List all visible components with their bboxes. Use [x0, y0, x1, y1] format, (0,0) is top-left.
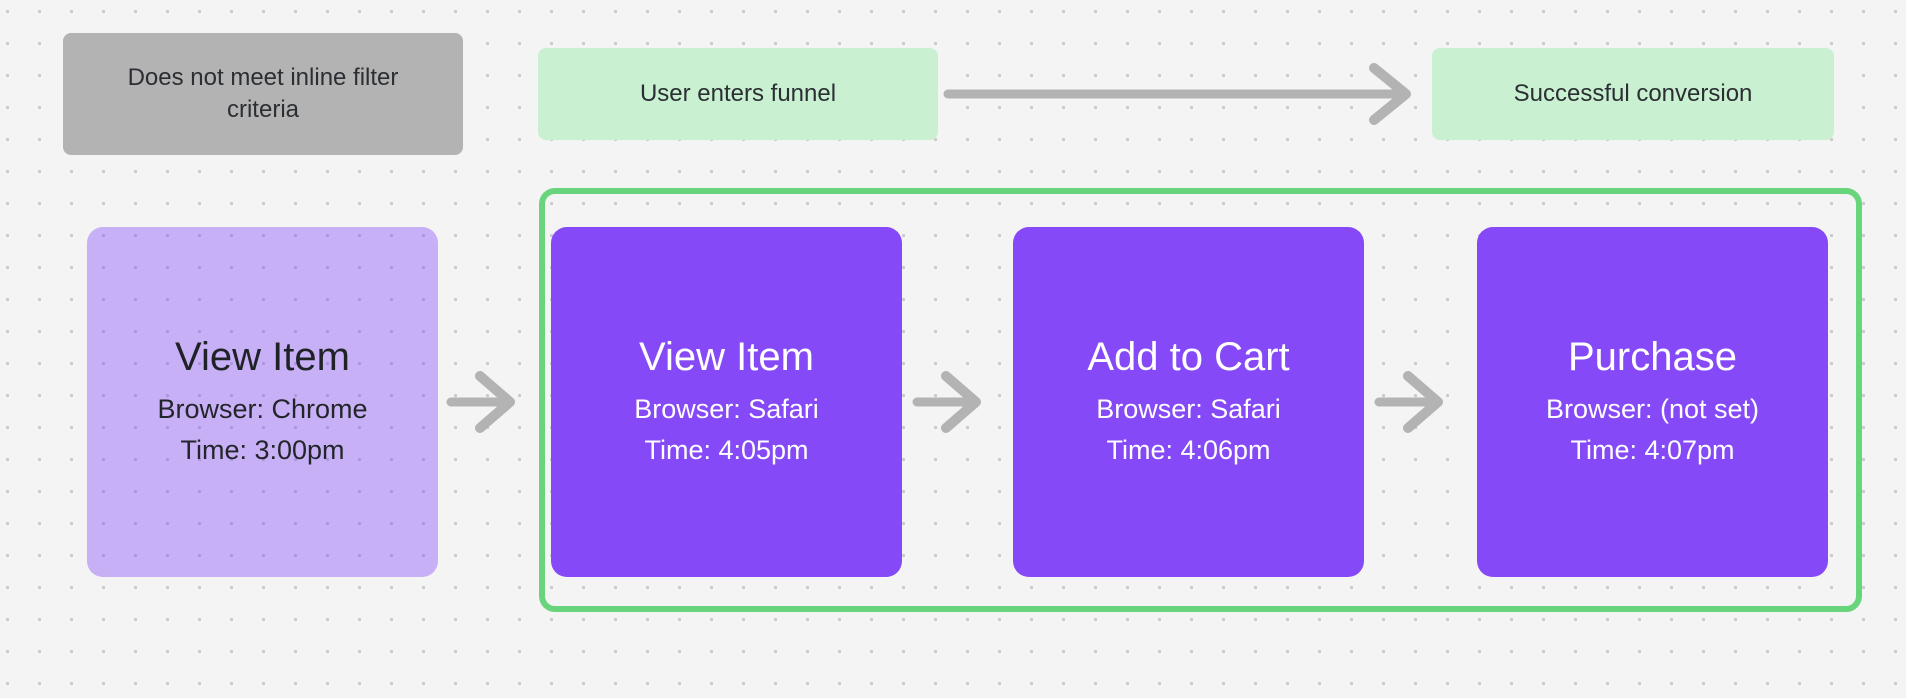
step-arrow-icon-3 [1374, 368, 1460, 436]
legend-flow-arrow-icon [942, 60, 1428, 128]
event-card-time: Time: 4:07pm [1570, 430, 1734, 470]
legend-user-enters-funnel: User enters funnel [538, 48, 938, 140]
event-card-time: Time: 3:00pm [180, 430, 344, 470]
event-card-title: Purchase [1568, 334, 1737, 381]
event-card-browser: Browser: Safari [1096, 389, 1281, 429]
event-card-browser: Browser: Chrome [157, 389, 367, 429]
event-card-funnel-step-2[interactable]: Add to Cart Browser: Safari Time: 4:06pm [1013, 227, 1364, 577]
event-card-funnel-step-1[interactable]: View Item Browser: Safari Time: 4:05pm [551, 227, 902, 577]
event-card-browser: Browser: Safari [634, 389, 819, 429]
step-arrow-icon-1 [446, 368, 532, 436]
diagram-canvas: Does not meet inline filter criteria Use… [0, 0, 1906, 698]
event-card-time: Time: 4:06pm [1106, 430, 1270, 470]
event-card-funnel-step-3[interactable]: Purchase Browser: (not set) Time: 4:07pm [1477, 227, 1828, 577]
legend-excluded-criteria: Does not meet inline filter criteria [63, 33, 463, 155]
event-card-title: View Item [639, 334, 814, 381]
event-card-browser: Browser: (not set) [1546, 389, 1759, 429]
step-arrow-icon-2 [912, 368, 998, 436]
event-card-title: View Item [175, 334, 350, 381]
event-card-excluded[interactable]: View Item Browser: Chrome Time: 3:00pm [87, 227, 438, 577]
event-card-title: Add to Cart [1087, 334, 1289, 381]
event-card-time: Time: 4:05pm [644, 430, 808, 470]
legend-successful-conversion: Successful conversion [1432, 48, 1834, 140]
